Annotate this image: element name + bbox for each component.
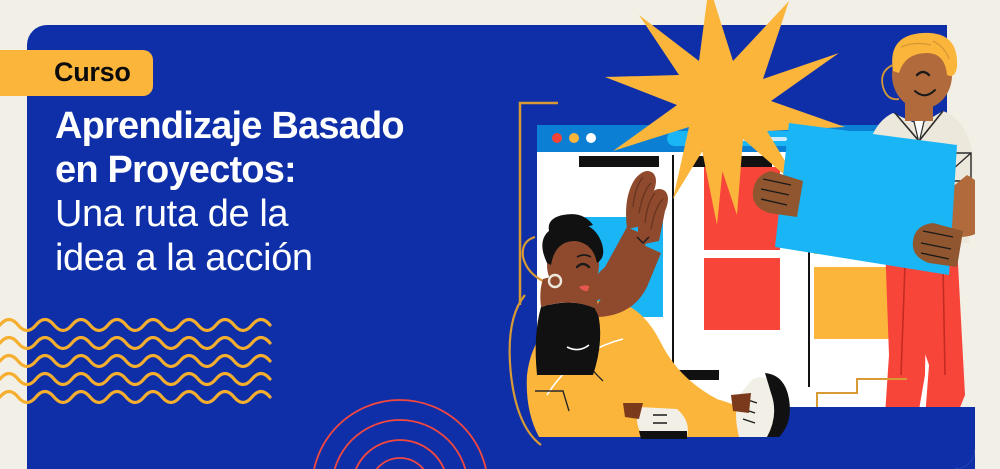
browser-dot-red [552,133,562,143]
wavy-lines [0,313,290,408]
title-line-2: en Proyectos: [55,148,404,192]
card-yellow-bottom [814,267,890,339]
title-line-1: Aprendizaje Basado [55,104,404,148]
course-banner: Aprendizaje Basado en Proyectos: Una rut… [0,0,1000,469]
browser-dot-yellow [569,133,579,143]
subtitle-line-2: idea a la acción [55,236,404,280]
title-block: Aprendizaje Basado en Proyectos: Una rut… [55,104,404,280]
card-red-bottom [704,258,780,330]
course-badge: Curso [0,50,153,96]
browser-dot-white [586,133,596,143]
subtitle-line-1: Una ruta de la [55,192,404,236]
column-header-1 [579,156,659,167]
woman-top [536,302,601,375]
concentric-circles [300,388,500,469]
